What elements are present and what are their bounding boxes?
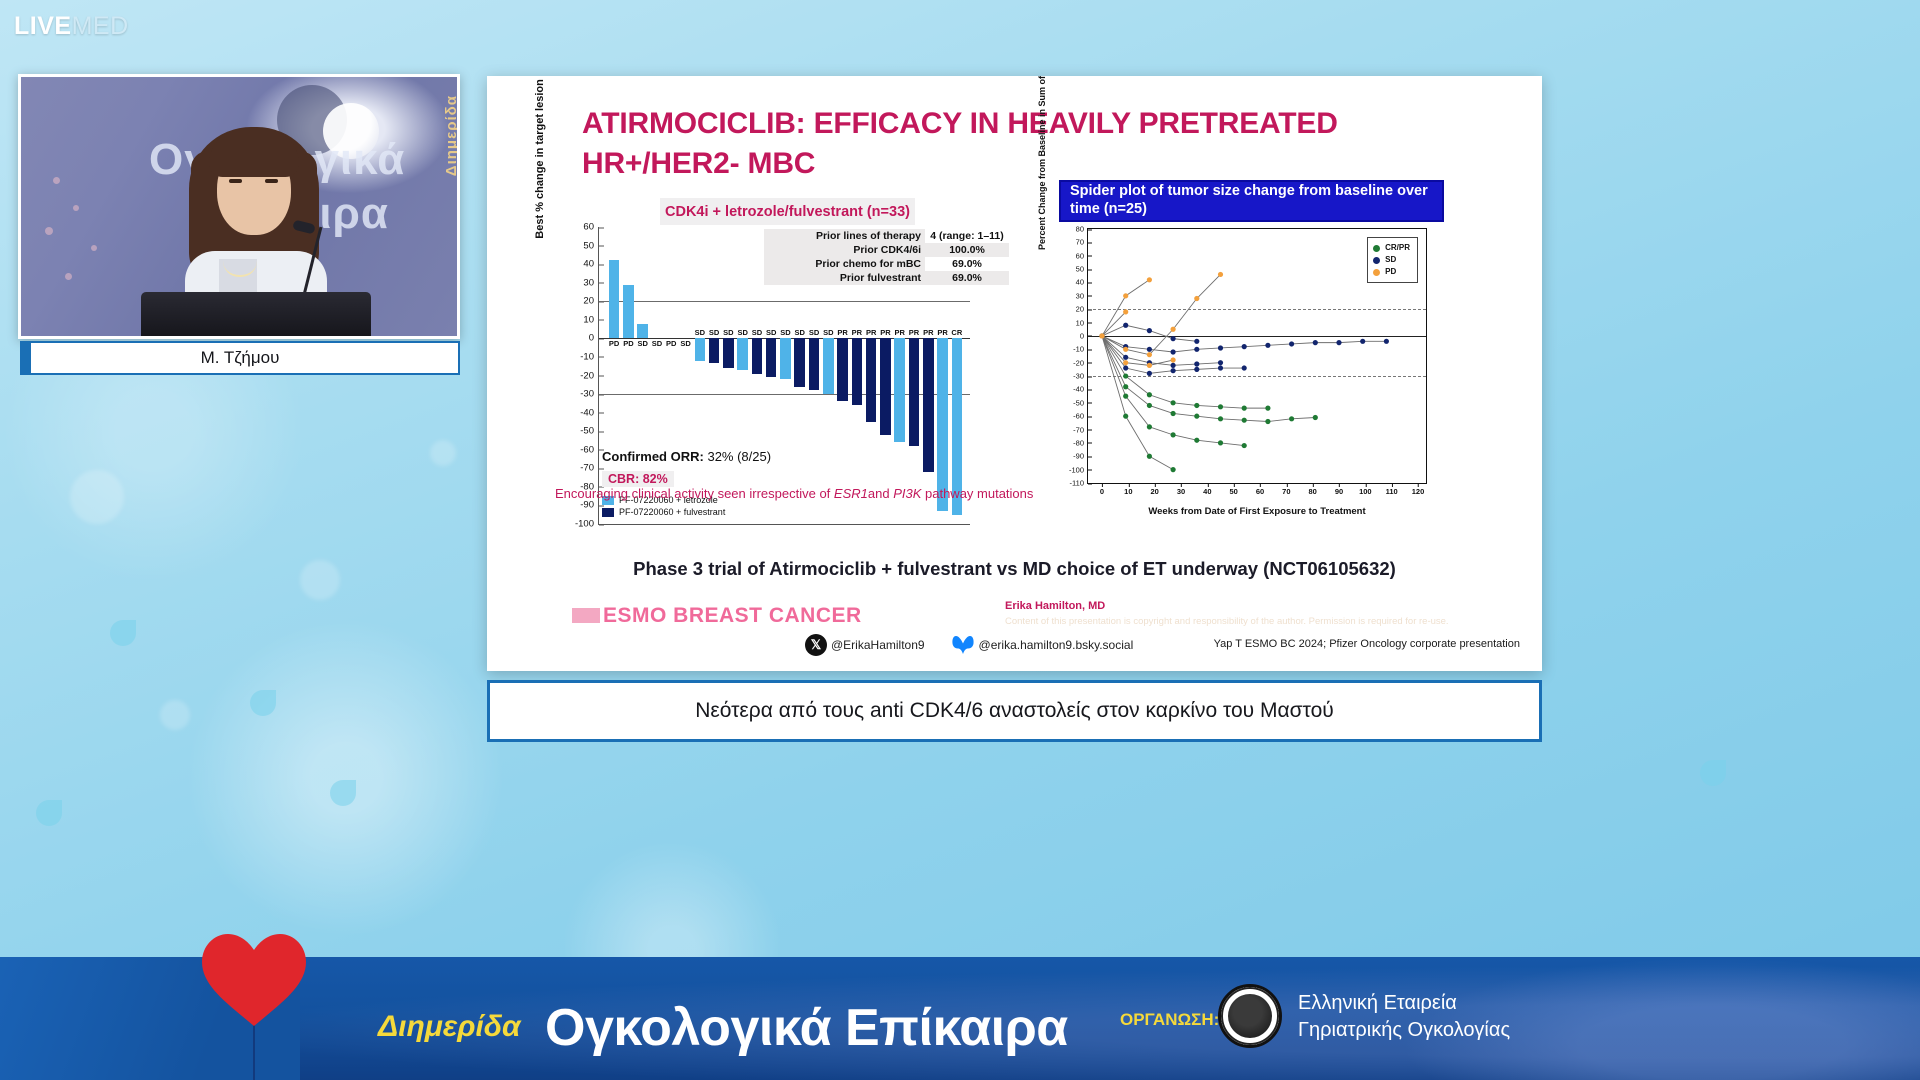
waterfall-bar: [723, 338, 734, 368]
waterfall-bar: [637, 324, 648, 339]
note-gene-pi3k: PI3K: [893, 486, 921, 501]
x-handle-label: @ErikaHamilton9: [831, 638, 925, 652]
slide-citation: Yap T ESMO BC 2024; Pfizer Oncology corp…: [1214, 638, 1520, 650]
waterfall-bar: [923, 338, 934, 472]
spider-y-tick: 10: [1076, 318, 1088, 327]
cdk-cohort-label: CDK4i + letrozole/fulvestrant (n=33): [665, 204, 910, 220]
waterfall-bar: [709, 338, 720, 362]
waterfall-y-tick: -100: [575, 519, 599, 530]
spider-x-tick: 40: [1203, 483, 1211, 496]
brand-bold: LIVE: [14, 12, 72, 40]
slide-copyright: Content of this presentation is copyrigh…: [1005, 616, 1535, 627]
waterfall-bar: [909, 338, 920, 446]
balloon-string: [253, 1022, 255, 1080]
waterfall-y-tick: -10: [580, 351, 599, 362]
spider-x-tick: 120: [1412, 483, 1425, 496]
waterfall-y-tick: 40: [583, 259, 599, 270]
spider-y-tick: -10: [1073, 345, 1088, 354]
bluesky-handle-group[interactable]: @erika.hamilton9.bsky.social: [951, 635, 1134, 655]
decorative-blob: [70, 470, 124, 524]
organizer-name-line1: Ελληνική Εταιρεία: [1298, 990, 1510, 1017]
spider-plot-banner: Spider plot of tumor size change from ba…: [1059, 180, 1444, 222]
footer-dimerida-label: Διημερίδα: [378, 1010, 521, 1044]
waterfall-bar: [794, 338, 805, 386]
spider-y-tick: -70: [1073, 425, 1088, 434]
waterfall-bar: [880, 338, 891, 435]
spider-x-tick: 20: [1150, 483, 1158, 496]
decorative-blob: [160, 700, 190, 730]
decorative-leaf: [1700, 760, 1726, 786]
decorative-blob: [430, 440, 456, 466]
spider-y-tick: -30: [1073, 372, 1088, 381]
waterfall-y-tick: -60: [580, 444, 599, 455]
slide-note: Encouraging clinical activity seen irres…: [555, 486, 1075, 501]
decorative-leaf: [110, 620, 136, 646]
spider-x-tick: 110: [1386, 483, 1398, 496]
phase3-statement: Phase 3 trial of Atirmociclib + fulvestr…: [487, 558, 1542, 580]
waterfall-y-tick: -90: [580, 500, 599, 511]
note-mid: and: [868, 486, 893, 501]
spider-y-axis-label: Percent Change from Baseline in Sum of D…: [1037, 76, 1048, 250]
speaker-name: Μ. Τζήμου: [201, 348, 280, 368]
waterfall-bar: [852, 338, 863, 405]
waterfall-orr-annotation: Confirmed ORR: 32% (8/25): [602, 449, 771, 464]
waterfall-y-tick: 20: [583, 296, 599, 307]
spider-y-tick: -20: [1073, 358, 1088, 367]
note-post: pathway mutations: [921, 486, 1033, 501]
spider-series-layer: [1088, 229, 1426, 483]
spider-x-tick: 60: [1256, 483, 1264, 496]
spider-y-tick: 40: [1076, 278, 1088, 287]
spider-y-tick: 60: [1076, 251, 1088, 260]
spider-x-tick: 100: [1359, 483, 1372, 496]
legend-label: PF-07220060 + fulvestrant: [619, 507, 725, 517]
heart-balloon-icon: [198, 930, 310, 1028]
waterfall-bar: [837, 338, 848, 401]
spider-banner-label: Spider plot of tumor size change from ba…: [1070, 183, 1433, 218]
session-topic-bar: Νεότερα από τους anti CDK4/6 αναστολείς …: [487, 680, 1542, 742]
x-twitter-icon[interactable]: 𝕏: [805, 634, 827, 656]
x-handle-group[interactable]: 𝕏 @ErikaHamilton9: [805, 634, 925, 656]
esmo-logo-text: ESMO BREAST CANCER: [603, 604, 862, 627]
organizer-name-line2: Γηριατρικής Ογκολογίας: [1298, 1017, 1510, 1044]
social-handles: 𝕏 @ErikaHamilton9 @erika.hamilton9.bsky.…: [805, 634, 1133, 656]
note-pre: Encouraging clinical activity seen irres…: [555, 486, 834, 501]
spider-y-tick: 20: [1076, 305, 1088, 314]
waterfall-bar: [752, 338, 763, 373]
waterfall-y-tick: 50: [583, 240, 599, 251]
waterfall-cbr-annotation: CBR: 82%: [602, 471, 674, 487]
spider-x-tick: 80: [1308, 483, 1316, 496]
waterfall-bar: [809, 338, 820, 390]
esmo-logo-mark: [572, 608, 600, 623]
presentation-slide[interactable]: ATIRMOCICLIB: EFFICACY IN HEAVILY PRETRE…: [487, 76, 1542, 671]
waterfall-reference-line: [599, 301, 970, 302]
footer-event-title: Ογκολογικά Επίκαιρα: [545, 998, 1068, 1058]
speaker-video[interactable]: Ογκολογικά Επίκαιρα Διημερίδα: [18, 74, 460, 339]
waterfall-bar: [894, 338, 905, 442]
waterfall-y-tick: -30: [580, 389, 599, 400]
slide-author: Erika Hamilton, MD: [1005, 600, 1105, 612]
waterfall-y-axis-label: Best % change in target lesion size: [534, 76, 546, 267]
organizer-name: Ελληνική Εταιρεία Γηριατρικής Ογκολογίας: [1298, 990, 1510, 1044]
spider-x-tick: 90: [1335, 483, 1343, 496]
podium: [141, 292, 371, 336]
waterfall-bar: [609, 260, 620, 338]
waterfall-bar: [866, 338, 877, 422]
waterfall-bar: [780, 338, 791, 379]
backdrop-dot: [45, 227, 53, 235]
decorative-leaf: [250, 690, 276, 716]
spider-x-tick: 50: [1229, 483, 1237, 496]
spider-y-tick: -50: [1073, 398, 1088, 407]
waterfall-y-tick: -20: [580, 370, 599, 381]
legend-item: PF-07220060 + fulvestrant: [602, 507, 725, 517]
backdrop-dot: [91, 245, 97, 251]
waterfall-bar: [766, 338, 777, 377]
orr-label: Confirmed ORR:: [602, 449, 704, 464]
spider-y-tick: 50: [1076, 265, 1088, 274]
spider-y-tick: 30: [1076, 291, 1088, 300]
backdrop-dot: [65, 273, 72, 280]
waterfall-y-tick: 30: [583, 277, 599, 288]
spider-plot-area: CR/PR SD PD 80706050403020100-10-20-30-4…: [1087, 228, 1427, 484]
bluesky-butterfly-icon[interactable]: [951, 635, 975, 655]
livemed-logo: LIVEMED: [14, 12, 129, 41]
spider-y-tick: -90: [1073, 452, 1088, 461]
session-topic-text: Νεότερα από τους anti CDK4/6 αναστολείς …: [695, 699, 1334, 723]
backdrop-dot: [53, 177, 60, 184]
legend-swatch-fulvestrant: [602, 508, 614, 517]
speaker-nameplate: Μ. Τζήμου: [20, 341, 460, 375]
waterfall-y-tick: 10: [583, 314, 599, 325]
waterfall-bar: [737, 338, 748, 370]
spider-y-tick: -100: [1069, 465, 1088, 474]
waterfall-y-tick: 60: [583, 222, 599, 233]
bluesky-handle-label: @erika.hamilton9.bsky.social: [979, 638, 1134, 652]
orr-value: 32% (8/25): [707, 449, 771, 464]
decorative-leaf: [330, 780, 356, 806]
spider-chart: Percent Change from Baseline in Sum of D…: [1035, 224, 1445, 569]
note-gene-esr1: ESR1: [834, 486, 868, 501]
spider-y-tick: -80: [1073, 438, 1088, 447]
decorative-blob: [300, 560, 340, 600]
footer-organizer-label: ΟΡΓΑΝΩΣΗ:: [1120, 1010, 1219, 1030]
nameplate-accent-bar: [22, 343, 31, 373]
waterfall-bar: [695, 338, 706, 360]
spider-y-tick: 70: [1076, 238, 1088, 247]
spider-y-tick: 80: [1076, 225, 1088, 234]
waterfall-y-tick: -70: [580, 463, 599, 474]
waterfall-y-tick: -50: [580, 426, 599, 437]
backdrop-text-vertical: Διημερίδα: [443, 95, 460, 176]
waterfall-y-tick: 0: [589, 333, 599, 344]
waterfall-bar-label: CR: [949, 328, 966, 337]
spider-x-axis-label: Weeks from Date of First Exposure to Tre…: [1087, 506, 1427, 517]
spider-y-tick: -40: [1073, 385, 1088, 394]
waterfall-chart: Best % change in target lesion size 6050…: [532, 221, 982, 551]
organizer-seal-logo: [1218, 984, 1282, 1048]
spider-x-tick: 10: [1124, 483, 1132, 496]
spider-y-tick: 0: [1080, 331, 1088, 340]
spider-x-tick: 30: [1177, 483, 1185, 496]
esmo-logo: ESMO BREAST CANCER: [572, 604, 862, 628]
spider-x-tick: 0: [1100, 483, 1104, 496]
brand-light: MED: [72, 12, 129, 40]
waterfall-bar: [823, 338, 834, 394]
waterfall-bar: [623, 285, 634, 339]
waterfall-bar-label: SD: [677, 339, 694, 348]
spider-x-tick: 70: [1282, 483, 1290, 496]
backdrop-dot: [73, 205, 79, 211]
waterfall-y-tick: -40: [580, 407, 599, 418]
slide-title: ATIRMOCICLIB: EFFICACY IN HEAVILY PRETRE…: [582, 104, 1462, 183]
decorative-leaf: [36, 800, 62, 826]
spider-y-tick: -60: [1073, 412, 1088, 421]
